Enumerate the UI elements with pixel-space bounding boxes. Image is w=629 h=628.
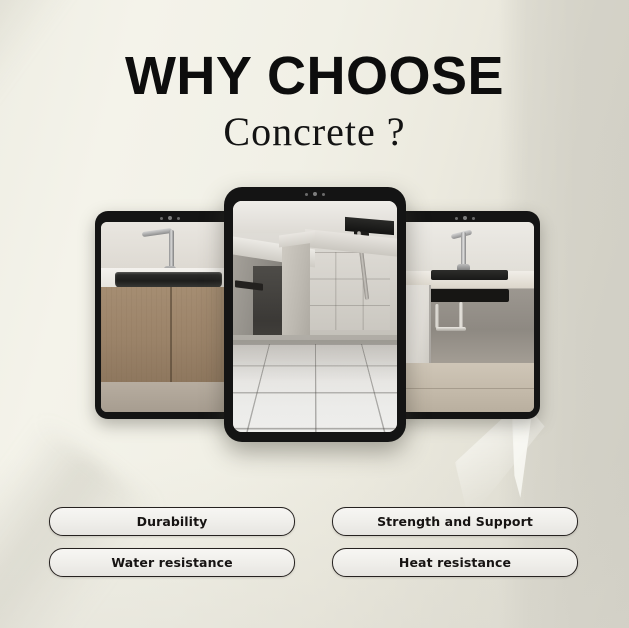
- feature-pill-durability[interactable]: Durability: [49, 507, 295, 536]
- tablet-camera-dots-left: [95, 215, 245, 221]
- page-subtitle: Concrete ?: [0, 108, 629, 155]
- background-bottom-gradient: [0, 458, 629, 628]
- photo-sink-wood-cabinet: [101, 222, 239, 412]
- photo-sink-open-cabinet: [396, 222, 534, 412]
- tablet-screen-center: [233, 201, 397, 432]
- feature-pill-water-resistance[interactable]: Water resistance: [49, 548, 295, 577]
- photo-sink-basin: [431, 270, 508, 280]
- photo-pipe-horizontal: [436, 327, 466, 331]
- photo-pipe-left: [435, 304, 439, 329]
- tablet-camera-dots-center: [224, 191, 406, 197]
- gallery-item-center[interactable]: [224, 187, 406, 442]
- page-title: WHY CHOOSE: [0, 48, 629, 105]
- feature-pill-heat-resistance[interactable]: Heat resistance: [332, 548, 578, 577]
- tablet-screen-right: [396, 222, 534, 412]
- faucet-neck-icon: [461, 232, 466, 268]
- tablet-screen-left: [101, 222, 239, 412]
- photo-floor: [101, 382, 239, 412]
- faucet-neck-icon: [169, 230, 174, 270]
- gallery-item-right[interactable]: [390, 211, 540, 419]
- photo-tiled-wall: [308, 252, 390, 331]
- photo-sink-underside: [418, 289, 509, 302]
- photo-cabinet-seam: [170, 287, 172, 382]
- photo-floor-seam: [396, 388, 534, 389]
- poster-canvas: WHY CHOOSE Concrete ?: [0, 0, 629, 628]
- feature-pill-strength[interactable]: Strength and Support: [332, 507, 578, 536]
- tablet-camera-dots-right: [390, 215, 540, 221]
- photo-tile-floor: [233, 344, 397, 432]
- photo-concrete-kitchen: [233, 201, 397, 432]
- gallery-item-left[interactable]: [95, 211, 245, 419]
- photo-sink-basin: [115, 272, 223, 287]
